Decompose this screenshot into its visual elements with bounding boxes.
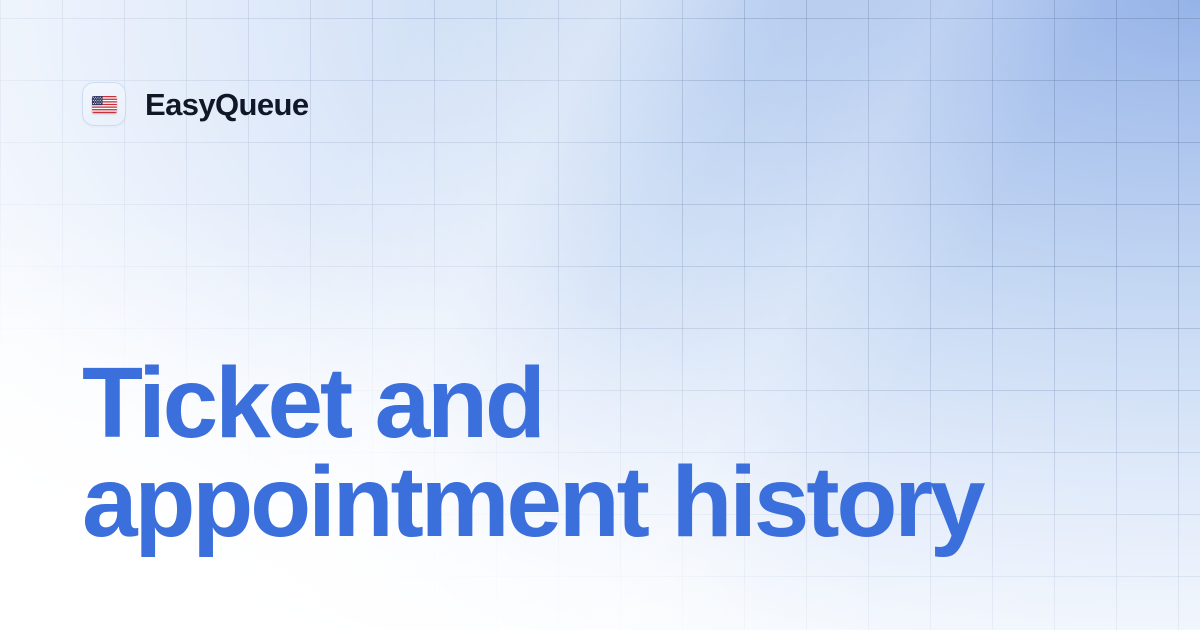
us-flag-icon <box>92 96 117 113</box>
brand-name: EasyQueue <box>145 89 308 120</box>
logo-badge <box>82 82 126 126</box>
share-banner: EasyQueue Ticket and appointment history <box>0 0 1200 630</box>
page-title: Ticket and appointment history <box>82 354 1142 552</box>
page-title-line-2: appointment history <box>82 453 1142 552</box>
brand-lockup: EasyQueue <box>82 82 308 126</box>
page-title-line-1: Ticket and <box>82 354 1142 453</box>
